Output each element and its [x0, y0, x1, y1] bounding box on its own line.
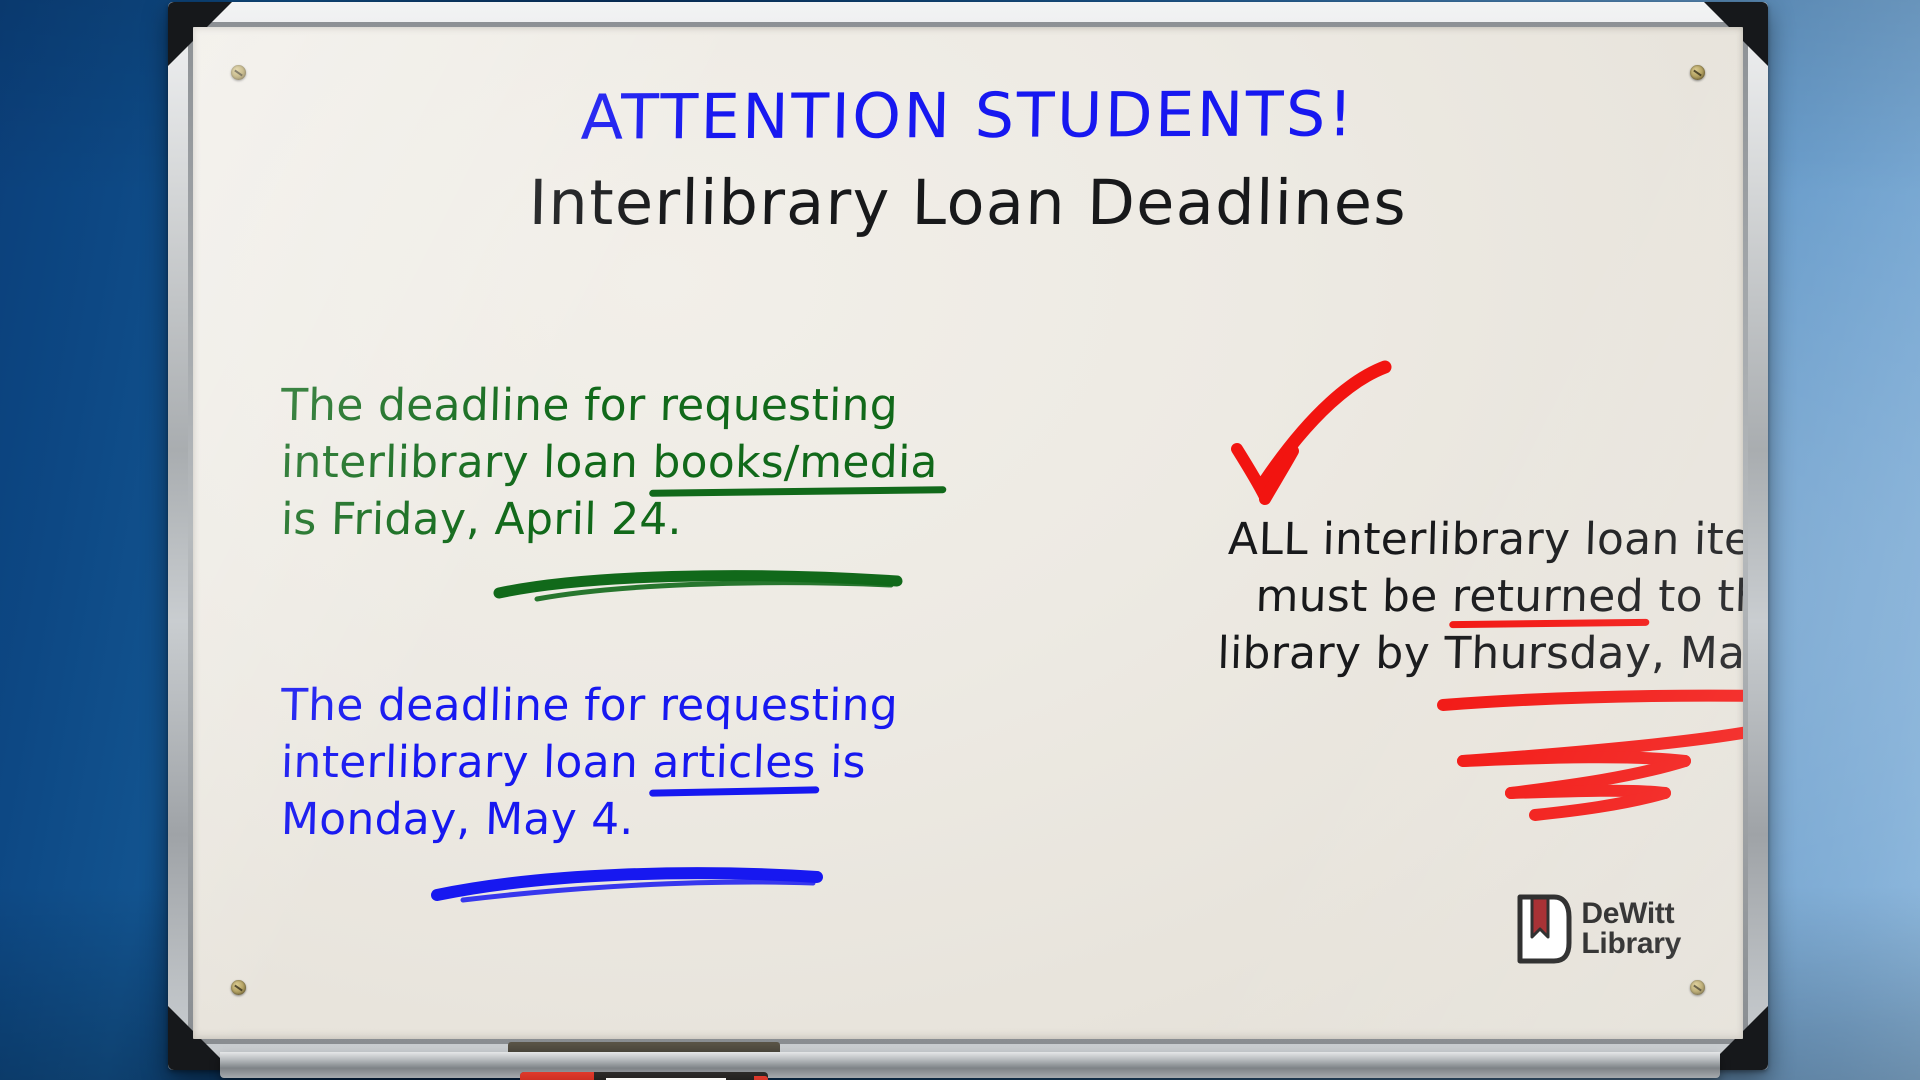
- blue-note-line-3: Monday, May 4.: [280, 791, 898, 848]
- green-underlined-phrase: books/media: [652, 434, 939, 491]
- returned-underlined-text: returned: [1451, 571, 1644, 622]
- frame-screw-bottom-left: [231, 980, 246, 995]
- whiteboard-surface: ATTENTION STUDENTS! Interlibrary Loan De…: [193, 27, 1743, 1039]
- blue-underlined-phrase: articles: [652, 734, 817, 791]
- blue-sweep-underline: [433, 867, 833, 909]
- logo-wordmark: DeWitt Library: [1581, 899, 1681, 959]
- page-title: ATTENTION STUDENTS!: [193, 82, 1743, 151]
- frame-screw-top-left: [231, 65, 246, 80]
- blue-underlined-text: articles: [652, 737, 817, 788]
- blue-note-text-2: interlibrary loan: [280, 737, 653, 788]
- green-note-text-3: is Friday, April 24.: [280, 494, 682, 545]
- frame-screw-top-right: [1690, 65, 1705, 80]
- green-note-line-2: interlibrary loan books/media: [280, 434, 938, 491]
- whiteboard: ATTENTION STUDENTS! Interlibrary Loan De…: [168, 2, 1768, 1070]
- green-note-line-1: The deadline for requesting: [280, 377, 938, 434]
- logo-line-1: DeWitt: [1581, 899, 1681, 929]
- green-sweep-underline: [493, 567, 913, 609]
- marker-tip: [754, 1076, 768, 1080]
- right-note-line-3: library by Thursday, May 7.: [1192, 625, 1743, 682]
- right-note-line-2: must be returned to the: [1192, 568, 1743, 625]
- blue-note-text-1: The deadline for requesting: [280, 680, 898, 731]
- whiteboard-scene: ATTENTION STUDENTS! Interlibrary Loan De…: [0, 0, 1920, 1080]
- blue-note-line-2: interlibrary loan articles is: [280, 734, 898, 791]
- right-note-text-post: to the: [1643, 571, 1743, 622]
- red-whiteboard-marker[interactable]: [520, 1060, 768, 1080]
- green-note-line-3: is Friday, April 24.: [280, 491, 938, 548]
- blue-deadline-note: The deadline for requesting interlibrary…: [281, 677, 898, 849]
- book-with-bookmark-icon: [1514, 893, 1572, 965]
- page-subtitle: Interlibrary Loan Deadlines: [193, 172, 1743, 234]
- red-curved-down-arrow-icon: [1203, 357, 1423, 527]
- blue-note-line-1: The deadline for requesting: [280, 677, 898, 734]
- green-deadline-note: The deadline for requesting interlibrary…: [281, 377, 938, 549]
- return-deadline-note: ALL interlibrary loan items must be retu…: [1193, 511, 1743, 683]
- green-note-text-2: interlibrary loan: [280, 437, 653, 488]
- logo-line-2: Library: [1581, 929, 1681, 959]
- right-note-text-pre: must be: [1255, 571, 1453, 622]
- marker-tray: [220, 1052, 1720, 1078]
- right-note-line-1: ALL interlibrary loan items: [1192, 511, 1743, 568]
- blue-note-text-3: is: [815, 737, 866, 788]
- green-note-text-1: The deadline for requesting: [280, 380, 898, 431]
- returned-underlined-phrase: returned: [1451, 568, 1644, 625]
- frame-screw-bottom-right: [1690, 980, 1705, 995]
- red-emphasis-scribble: [1433, 687, 1743, 847]
- marker-cap: [520, 1072, 594, 1080]
- green-underlined-text: books/media: [652, 437, 939, 488]
- blue-note-text-4: Monday, May 4.: [280, 794, 634, 845]
- dewitt-library-logo: DeWitt Library: [1514, 893, 1681, 965]
